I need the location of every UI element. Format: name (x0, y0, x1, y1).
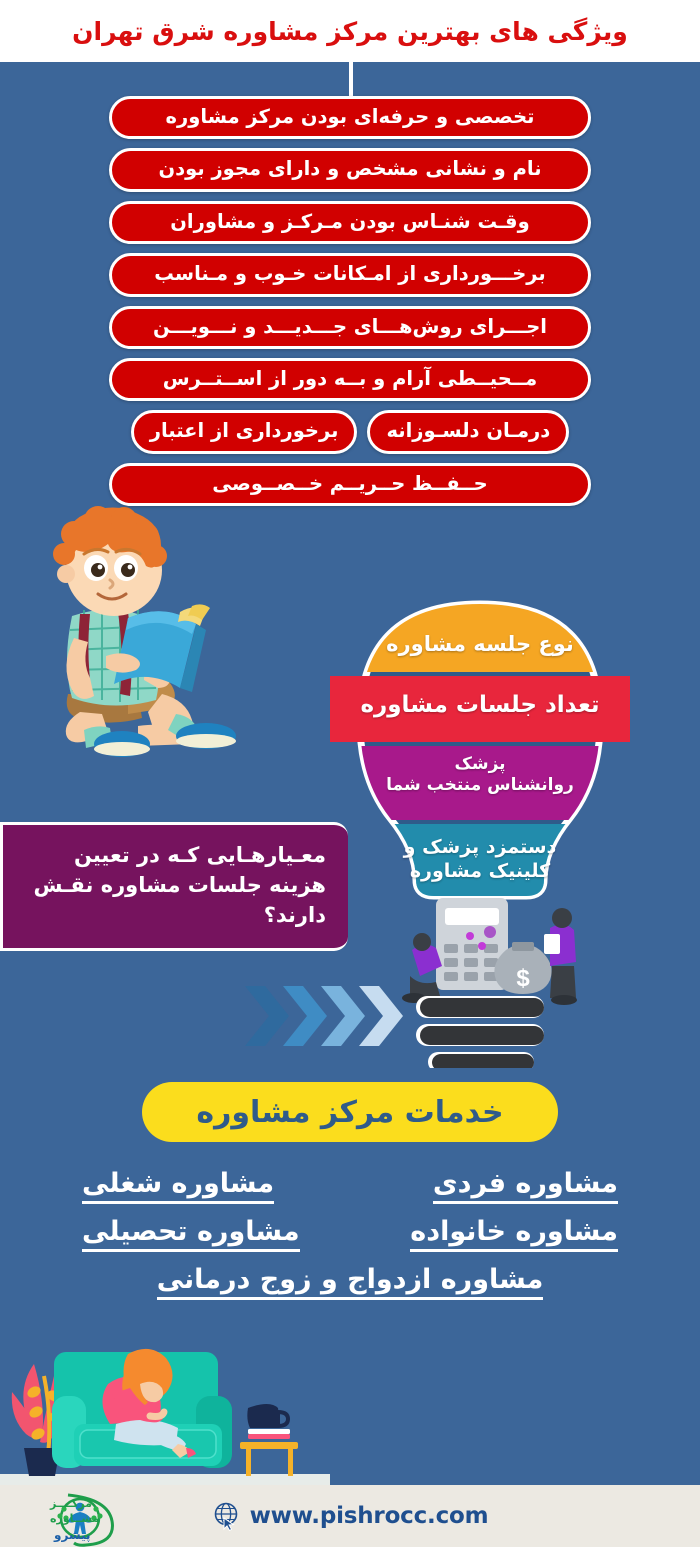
services-col-right: مشاوره فردی (350, 1168, 650, 1204)
feature-pill[interactable]: وقـت شنـاس بودن مـرکـز و مشاوران (109, 201, 591, 244)
services-col-left: مشاوره شغلی (50, 1168, 350, 1204)
services-row: مشاوره خانواده مشاوره تحصیلی (0, 1216, 700, 1252)
service-item-family[interactable]: مشاوره خانواده (410, 1216, 618, 1252)
services-heading-pill: خدمات مرکز مشاوره (142, 1082, 558, 1142)
bulb-base-bars (416, 996, 544, 1068)
services-row-single: مشاوره ازدواج و زوج درمانی (0, 1264, 700, 1300)
footer-url-group[interactable]: www.pishrocc.com (0, 1485, 700, 1547)
footer-url-text[interactable]: www.pishrocc.com (250, 1503, 489, 1529)
globe-icon (212, 1501, 242, 1531)
feature-row: نام و نشانی مشخص و دارای مجوز بودن (0, 148, 700, 191)
side-table-icon (240, 1404, 298, 1476)
feature-pill[interactable]: نام و نشانی مشخص و دارای مجوز بودن (109, 148, 591, 191)
feature-pill[interactable]: تخصصی و حرفه‌ای بودن مرکز مشاوره (109, 96, 591, 139)
criteria-question-text: معـیارهـایی کـه در تعیین هزینه جلسات مشا… (21, 841, 326, 930)
criteria-question-box: معـیارهـایی کـه در تعیین هزینه جلسات مشا… (0, 822, 348, 951)
services-col-right: مشاوره خانواده (350, 1216, 650, 1252)
feature-pill-compassionate-care[interactable]: درمـان دلسـوزانه (367, 410, 569, 453)
feature-pill[interactable]: برخـــورداری از امـکانات خـوب و مـناسب (109, 253, 591, 296)
boy-reading-illustration (10, 498, 280, 758)
features-list: تخصصی و حرفه‌ای بودن مرکز مشاوره نام و ن… (0, 96, 700, 515)
chevron-arrows-icon (243, 980, 423, 1052)
service-item-educational[interactable]: مشاوره تحصیلی (82, 1216, 300, 1252)
page-title: ویژگی های بهترین مرکز مشاوره شرق تهران (72, 17, 628, 46)
funnel-band-session-type (330, 598, 630, 672)
funnel-band-specialist (330, 746, 630, 820)
calculator-money-illustration: $ (402, 898, 577, 1005)
header-band: ویژگی های بهترین مرکز مشاوره شرق تهران (0, 0, 700, 62)
feature-pill-credibility[interactable]: برخورداری از اعتبار (131, 410, 358, 453)
feature-row: تخصصی و حرفه‌ای بودن مرکز مشاوره (0, 96, 700, 139)
header-connector-line (349, 62, 353, 100)
feature-row: مــحیــطی آرام و بــه دور از اســتــرس (0, 358, 700, 401)
service-item-career[interactable]: مشاوره شغلی (82, 1168, 274, 1204)
services-list: مشاوره فردی مشاوره شغلی مشاوره خانواده م… (0, 1168, 700, 1312)
feature-row: برخـــورداری از امـکانات خـوب و مـناسب (0, 253, 700, 296)
footer-bar: مرکــــز مشــاوره پیشرو www.pishrocc.com (0, 1485, 700, 1547)
feature-row: وقـت شنـاس بودن مـرکـز و مشاوران (0, 201, 700, 244)
feature-pill[interactable]: مــحیــطی آرام و بــه دور از اســتــرس (109, 358, 591, 401)
services-row: مشاوره فردی مشاوره شغلی (0, 1168, 700, 1204)
svg-text:$: $ (516, 965, 530, 992)
service-item-individual[interactable]: مشاوره فردی (433, 1168, 618, 1204)
infographic-page: ویژگی های بهترین مرکز مشاوره شرق تهران ت… (0, 0, 700, 1547)
feature-row: حــفــظ حــریــم خــصــوصی (0, 463, 700, 506)
feature-pill[interactable]: اجـــرای روش‌هـــای جـــدیـــد و نـــویـ… (109, 306, 591, 349)
service-item-marriage-couple-therapy[interactable]: مشاوره ازدواج و زوج درمانی (157, 1264, 544, 1300)
feature-pill-privacy[interactable]: حــفــظ حــریــم خــصــوصی (109, 463, 591, 506)
services-heading-text: خدمات مرکز مشاوره (196, 1095, 503, 1130)
feature-row: اجـــرای روش‌هـــای جـــدیـــد و نـــویـ… (0, 306, 700, 349)
feature-row-split: درمـان دلسـوزانه برخورداری از اعتبار (0, 410, 700, 453)
services-col-left: مشاوره تحصیلی (50, 1216, 350, 1252)
woman-on-sofa-illustration (0, 1336, 330, 1488)
